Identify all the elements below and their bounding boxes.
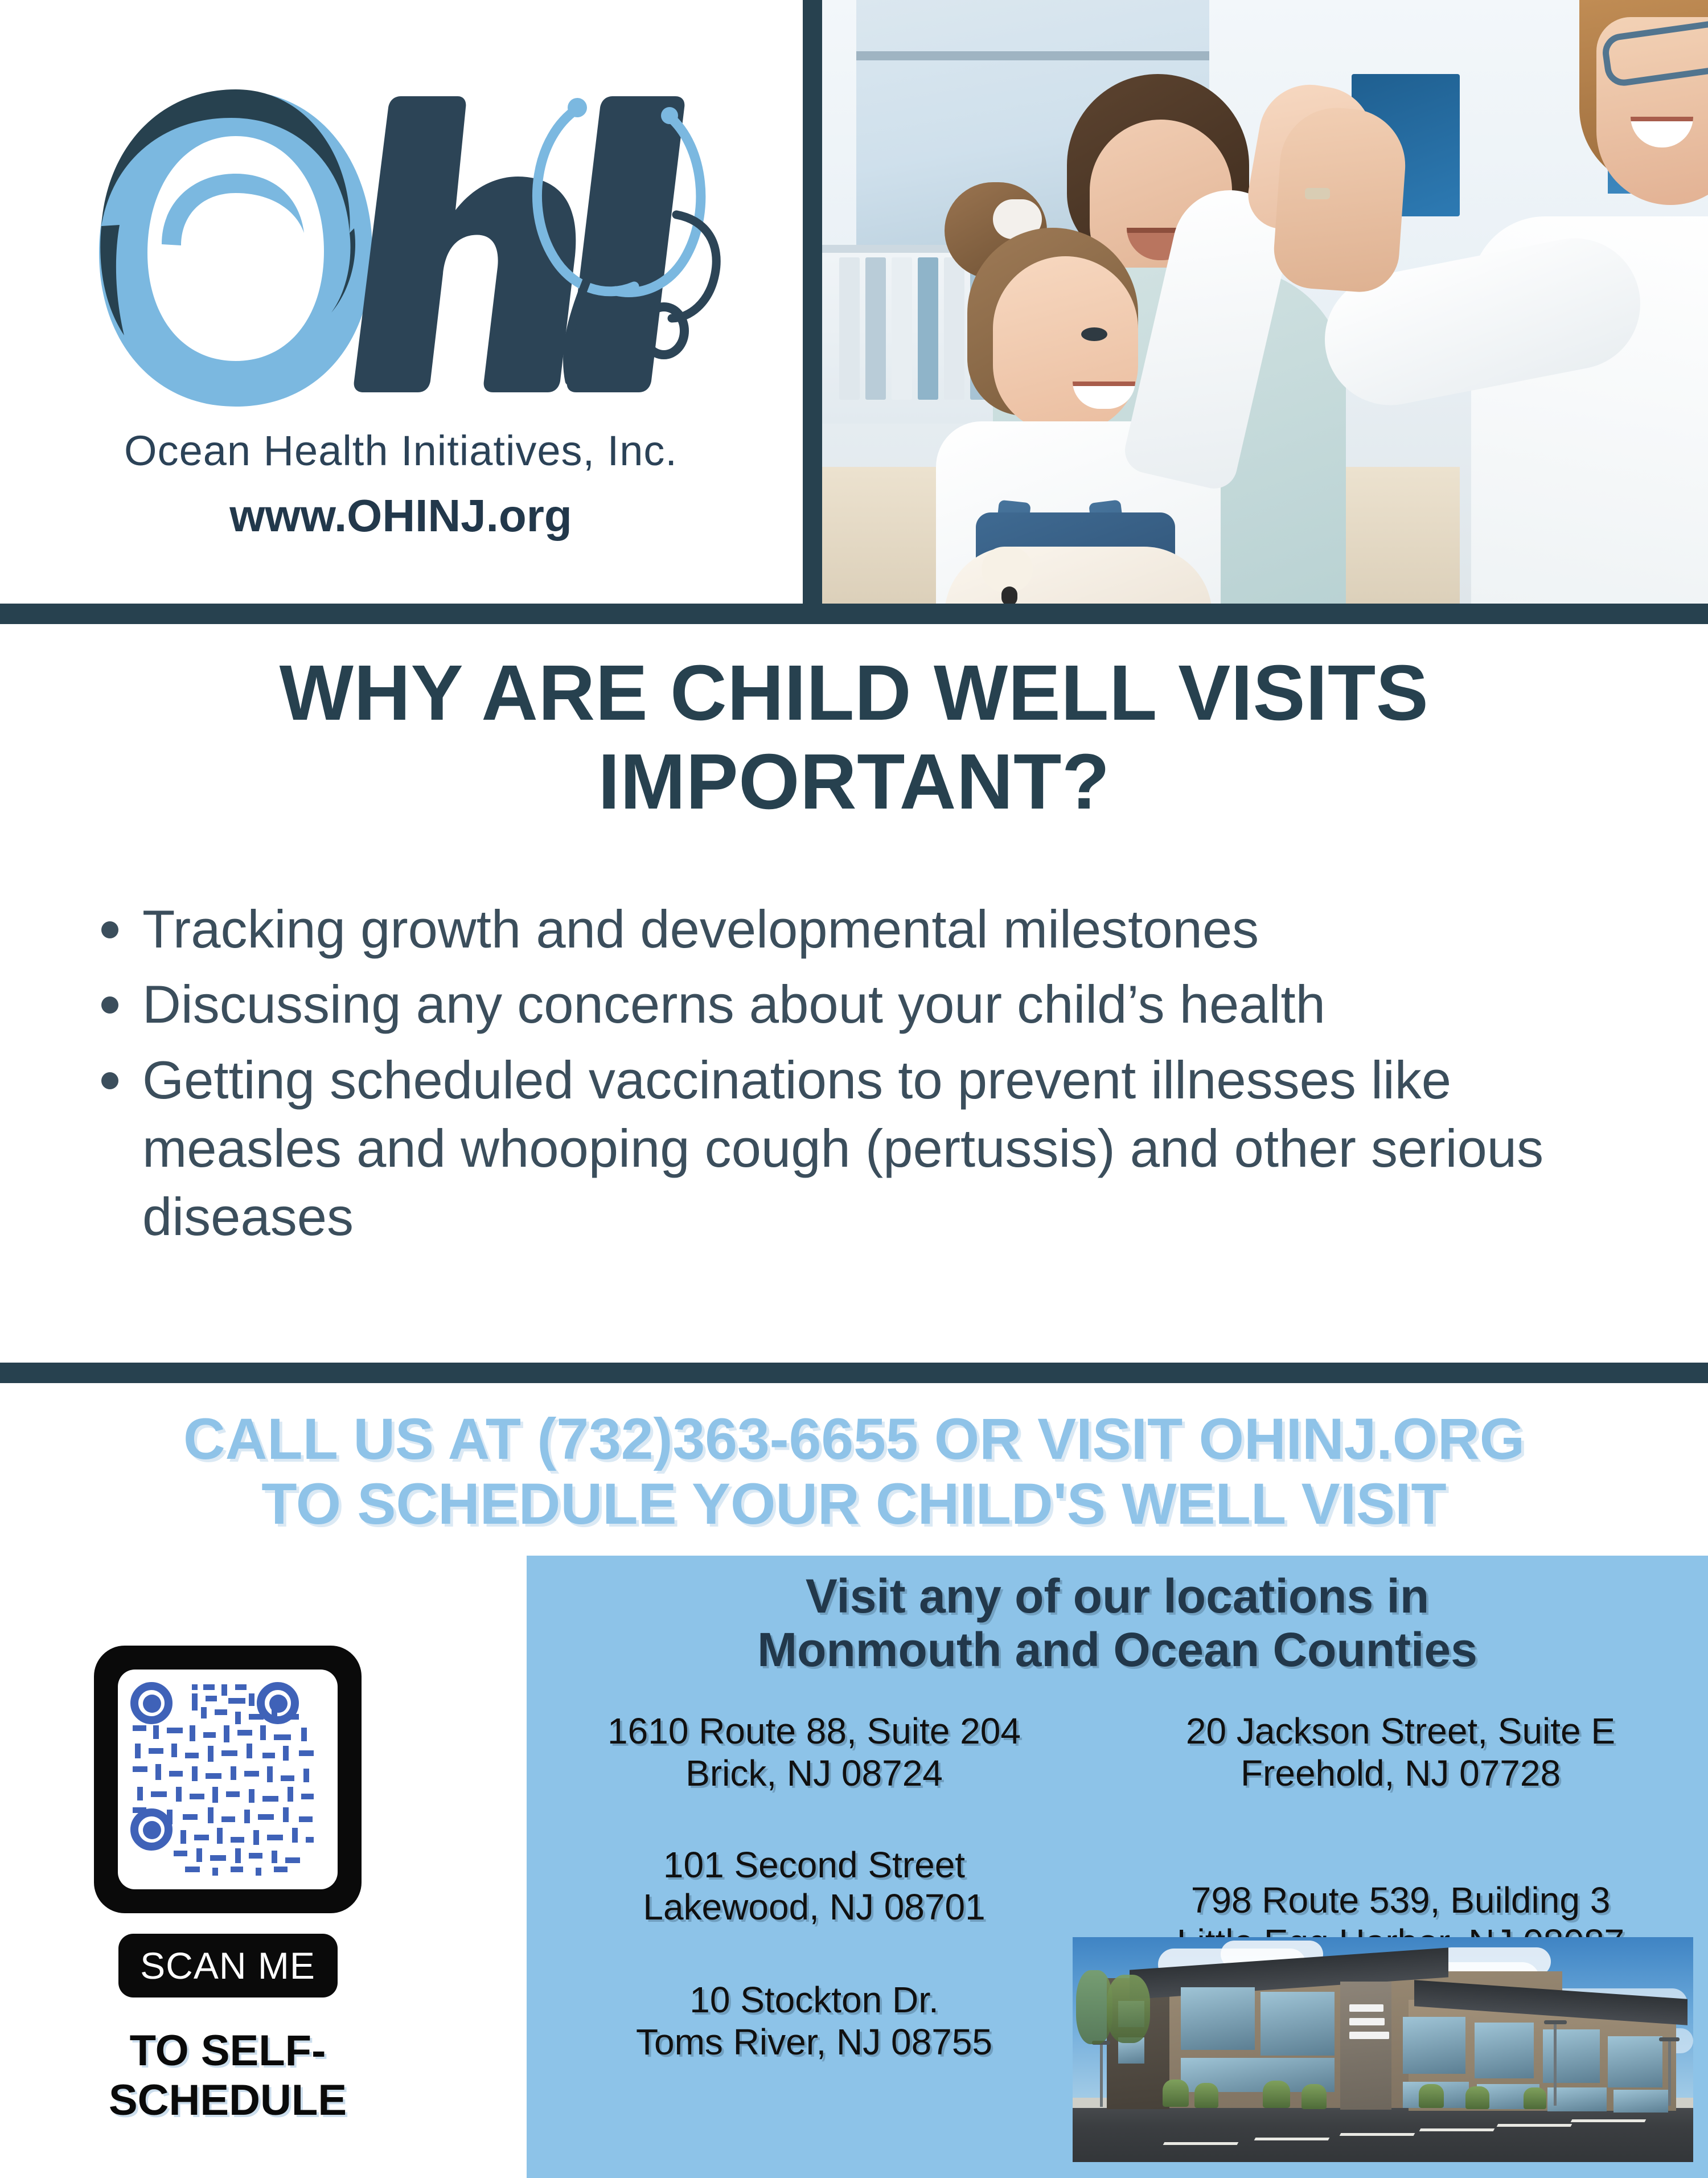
scan-me-label: SCAN ME: [140, 1944, 315, 1987]
benefits-list: Tracking growth and developmental milest…: [80, 895, 1651, 1258]
list-item: Discussing any concerns about your child…: [142, 970, 1651, 1039]
logo-website-url: www.OHINJ.org: [229, 490, 572, 542]
headline-line-1: WHY ARE CHILD WELL VISITS: [80, 649, 1628, 738]
location-street: 10 Stockton Dr.: [532, 1979, 1096, 2021]
self-schedule-caption: TO SELF-SCHEDULE: [51, 2026, 404, 2125]
cta-line-1: CALL US AT (732)363-6655 OR VISIT OHINJ.…: [17, 1406, 1691, 1471]
cta-divider-band: [0, 1363, 1708, 1383]
page-title: WHY ARE CHILD WELL VISITS IMPORTANT?: [80, 649, 1628, 827]
scan-me-badge[interactable]: SCAN ME: [118, 1934, 338, 1997]
header-divider-band: [0, 604, 1708, 624]
call-to-action: CALL US AT (732)363-6655 OR VISIT OHINJ.…: [17, 1406, 1691, 1536]
location-city: Lakewood, NJ 08701: [532, 1886, 1096, 1929]
locations-title: Visit any of our locations in Monmouth a…: [549, 1569, 1685, 1676]
qr-code-frame[interactable]: [94, 1646, 362, 1913]
cta-line-2: TO SCHEDULE YOUR CHILD'S WELL VISIT: [17, 1471, 1691, 1536]
location-city: Brick, NJ 08724: [532, 1753, 1096, 1795]
logo-panel: Ocean Health Initiatives, Inc. www.OHINJ…: [0, 0, 802, 592]
header-vertical-divider: [803, 0, 822, 604]
building-sign-line-3: [1349, 2032, 1389, 2039]
qr-code-block[interactable]: SCAN ME TO SELF-SCHEDULE: [51, 1646, 404, 2125]
location-city: Toms River, NJ 08755: [532, 2021, 1096, 2064]
ohi-circular-swoosh-logo-icon: [65, 73, 737, 421]
location-item: 1610 Route 88, Suite 204 Brick, NJ 08724: [532, 1711, 1096, 1794]
location-street: 798 Route 539, Building 3: [1099, 1880, 1702, 1922]
locations-title-line-2: Monmouth and Ocean Counties: [549, 1623, 1685, 1676]
ohi-building-photo: [1073, 1937, 1693, 2162]
clinic-high-five-photo: [822, 0, 1708, 604]
location-street: 20 Jackson Street, Suite E: [1099, 1711, 1702, 1753]
list-item: Tracking growth and developmental milest…: [142, 895, 1651, 963]
locations-title-line-1: Visit any of our locations in: [549, 1569, 1685, 1623]
headline-line-2: IMPORTANT?: [80, 738, 1628, 827]
list-item: Getting scheduled vaccinations to preven…: [142, 1046, 1651, 1252]
location-street: 1610 Route 88, Suite 204: [532, 1711, 1096, 1753]
location-street: 101 Second Street: [532, 1844, 1096, 1886]
header-section: Ocean Health Initiatives, Inc. www.OHINJ…: [0, 0, 1708, 604]
location-item: 101 Second Street Lakewood, NJ 08701: [532, 1844, 1096, 1928]
building-sign-line-1: [1349, 2004, 1383, 2012]
address-column-left: 1610 Route 88, Suite 204 Brick, NJ 08724…: [532, 1711, 1096, 2099]
logo-org-name: Ocean Health Initiatives, Inc.: [124, 426, 678, 475]
location-item: 10 Stockton Dr. Toms River, NJ 08755: [532, 1979, 1096, 2063]
building-sign-line-2: [1349, 2018, 1385, 2025]
location-city: Freehold, NJ 07728: [1099, 1753, 1702, 1795]
qr-code-icon[interactable]: [118, 1670, 338, 1889]
location-item: 20 Jackson Street, Suite E Freehold, NJ …: [1099, 1711, 1702, 1794]
